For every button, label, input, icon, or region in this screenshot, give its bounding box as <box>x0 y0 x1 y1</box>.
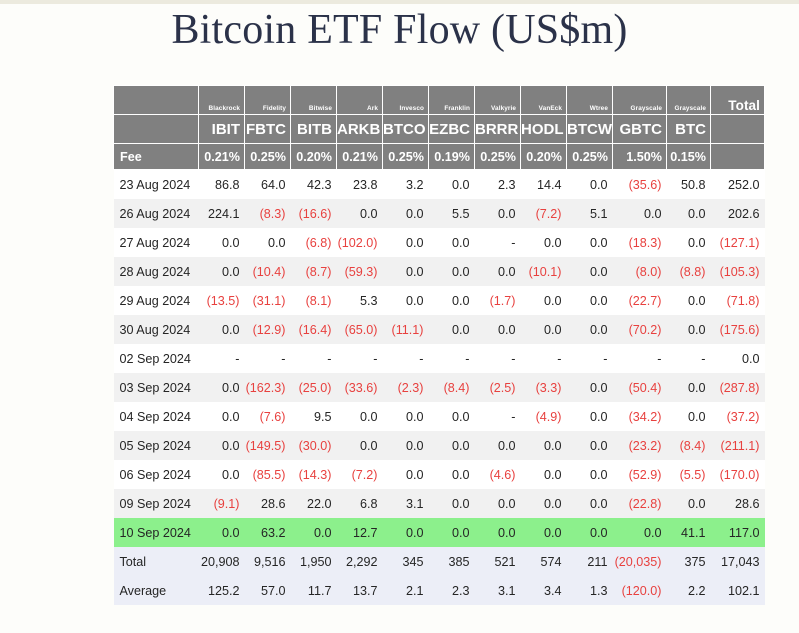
cell-gbtc: (50.4) <box>613 373 667 402</box>
header-blank-ticker <box>114 115 199 144</box>
cell-brrr: - <box>475 228 521 257</box>
cell-ibit: 0.0 <box>199 518 245 547</box>
cell-ibit: 224.1 <box>199 199 245 228</box>
fee-bitb: 0.20% <box>291 144 337 170</box>
cell-arkb: 6.8 <box>337 489 383 518</box>
cell-arkb: - <box>337 344 383 373</box>
cell-hodl: 14.4 <box>521 170 567 200</box>
row-label: 23 Aug 2024 <box>114 170 199 200</box>
cell-brrr: 2.3 <box>475 170 521 200</box>
table-row: 30 Aug 20240.0(12.9)(16.4)(65.0)(11.1)0.… <box>114 315 765 344</box>
cell-total: 117.0 <box>711 518 765 547</box>
cell-gbtc: 0.0 <box>613 518 667 547</box>
fee-hodl: 0.20% <box>521 144 567 170</box>
cell-btco: (2.3) <box>383 373 429 402</box>
cell-brrr: - <box>475 402 521 431</box>
table-row: Average125.257.011.713.72.12.33.13.41.3(… <box>114 576 765 605</box>
row-label: 06 Sep 2024 <box>114 460 199 489</box>
cell-arkb: (65.0) <box>337 315 383 344</box>
cell-arkb: 2,292 <box>337 547 383 576</box>
cell-ezbc: 0.0 <box>429 228 475 257</box>
cell-ibit: 0.0 <box>199 228 245 257</box>
company-header-btcw: Wtree <box>567 86 613 115</box>
cell-gbtc: (120.0) <box>613 576 667 605</box>
cell-btco: (11.1) <box>383 315 429 344</box>
company-header-bitb: Bitwise <box>291 86 337 115</box>
company-header-fbtc: Fidelity <box>245 86 291 115</box>
row-label: 05 Sep 2024 <box>114 431 199 460</box>
cell-ibit: (9.1) <box>199 489 245 518</box>
cell-arkb: (59.3) <box>337 257 383 286</box>
cell-ezbc: 0.0 <box>429 518 475 547</box>
cell-ibit: 0.0 <box>199 373 245 402</box>
fee-fbtc: 0.25% <box>245 144 291 170</box>
cell-btco: 0.0 <box>383 460 429 489</box>
cell-btcw: 0.0 <box>567 257 613 286</box>
cell-brrr: 521 <box>475 547 521 576</box>
cell-hodl: (3.3) <box>521 373 567 402</box>
cell-fbtc: 28.6 <box>245 489 291 518</box>
cell-bitb: (16.4) <box>291 315 337 344</box>
cell-btc: 0.0 <box>667 489 711 518</box>
fee-header-row: Fee 0.21%0.25%0.20%0.21%0.25%0.19%0.25%0… <box>114 144 765 170</box>
cell-btc: 0.0 <box>667 199 711 228</box>
cell-gbtc: (22.7) <box>613 286 667 315</box>
cell-btcw: 0.0 <box>567 373 613 402</box>
cell-fbtc: (162.3) <box>245 373 291 402</box>
cell-bitb: (8.7) <box>291 257 337 286</box>
company-header-brrr: Valkyrie <box>475 86 521 115</box>
cell-ezbc: (8.4) <box>429 373 475 402</box>
row-label: 04 Sep 2024 <box>114 402 199 431</box>
cell-btc: (8.4) <box>667 431 711 460</box>
company-header-gbtc: Grayscale <box>613 86 667 115</box>
table-row: 04 Sep 20240.0(7.6)9.50.00.00.0-(4.9)0.0… <box>114 402 765 431</box>
fee-btcw: 0.25% <box>567 144 613 170</box>
ticker-header-brrr: BRRR <box>475 115 521 144</box>
cell-hodl: 0.0 <box>521 315 567 344</box>
ticker-header-btcw: BTCW <box>567 115 613 144</box>
etf-flow-table-container: BlackrockFidelityBitwiseArkInvescoFrankl… <box>113 85 696 605</box>
cell-btco: 0.0 <box>383 518 429 547</box>
table-row: 06 Sep 20240.0(85.5)(14.3)(7.2)0.00.0(4.… <box>114 460 765 489</box>
cell-fbtc: 0.0 <box>245 228 291 257</box>
cell-hodl: 0.0 <box>521 518 567 547</box>
cell-btco: 2.1 <box>383 576 429 605</box>
cell-btcw: 1.3 <box>567 576 613 605</box>
cell-btco: 0.0 <box>383 286 429 315</box>
cell-gbtc: (20,035) <box>613 547 667 576</box>
cell-brrr: 0.0 <box>475 489 521 518</box>
cell-ezbc: 2.3 <box>429 576 475 605</box>
cell-hodl: 0.0 <box>521 460 567 489</box>
cell-btc: (5.5) <box>667 460 711 489</box>
cell-total: (211.1) <box>711 431 765 460</box>
cell-btco: 0.0 <box>383 402 429 431</box>
ticker-header-gbtc: GBTC <box>613 115 667 144</box>
table-row: 03 Sep 20240.0(162.3)(25.0)(33.6)(2.3)(8… <box>114 373 765 402</box>
cell-btco: 0.0 <box>383 228 429 257</box>
row-label: 03 Sep 2024 <box>114 373 199 402</box>
cell-ezbc: 0.0 <box>429 170 475 200</box>
row-label: 02 Sep 2024 <box>114 344 199 373</box>
cell-total: (71.8) <box>711 286 765 315</box>
cell-bitb: (25.0) <box>291 373 337 402</box>
cell-arkb: (33.6) <box>337 373 383 402</box>
cell-hodl: (4.9) <box>521 402 567 431</box>
cell-gbtc: (22.8) <box>613 489 667 518</box>
cell-ibit: (13.5) <box>199 286 245 315</box>
ticker-header-row: IBITFBTCBITBARKBBTCOEZBCBRRRHODLBTCWGBTC… <box>114 115 765 144</box>
cell-fbtc: (12.9) <box>245 315 291 344</box>
cell-total: (127.1) <box>711 228 765 257</box>
cell-brrr: (2.5) <box>475 373 521 402</box>
company-header-arkb: Ark <box>337 86 383 115</box>
cell-fbtc: 64.0 <box>245 170 291 200</box>
cell-total: (287.8) <box>711 373 765 402</box>
cell-total: (105.3) <box>711 257 765 286</box>
cell-gbtc: (52.9) <box>613 460 667 489</box>
row-label: 09 Sep 2024 <box>114 489 199 518</box>
table-row: 09 Sep 2024(9.1)28.622.06.83.10.00.00.00… <box>114 489 765 518</box>
cell-hodl: 0.0 <box>521 431 567 460</box>
cell-bitb: (8.1) <box>291 286 337 315</box>
cell-btcw: 0.0 <box>567 460 613 489</box>
cell-ibit: 20,908 <box>199 547 245 576</box>
fee-total-blank <box>711 144 765 170</box>
row-label: 28 Aug 2024 <box>114 257 199 286</box>
cell-brrr: 3.1 <box>475 576 521 605</box>
cell-btcw: 0.0 <box>567 286 613 315</box>
cell-btcw: 5.1 <box>567 199 613 228</box>
cell-fbtc: (85.5) <box>245 460 291 489</box>
fee-ibit: 0.21% <box>199 144 245 170</box>
row-label: 27 Aug 2024 <box>114 228 199 257</box>
company-header-ibit: Blackrock <box>199 86 245 115</box>
cell-btcw: 0.0 <box>567 518 613 547</box>
cell-hodl: (7.2) <box>521 199 567 228</box>
cell-fbtc: (31.1) <box>245 286 291 315</box>
cell-ezbc: 0.0 <box>429 315 475 344</box>
cell-btcw: 0.0 <box>567 402 613 431</box>
cell-gbtc: (35.6) <box>613 170 667 200</box>
company-header-ezbc: Franklin <box>429 86 475 115</box>
cell-ezbc: 0.0 <box>429 431 475 460</box>
cell-gbtc: - <box>613 344 667 373</box>
cell-total: 28.6 <box>711 489 765 518</box>
cell-hodl: 0.0 <box>521 489 567 518</box>
cell-btc: 50.8 <box>667 170 711 200</box>
cell-btc: (8.8) <box>667 257 711 286</box>
cell-arkb: 0.0 <box>337 431 383 460</box>
cell-hodl: 0.0 <box>521 228 567 257</box>
cell-btcw: 211 <box>567 547 613 576</box>
fee-gbtc: 1.50% <box>613 144 667 170</box>
ticker-header-arkb: ARKB <box>337 115 383 144</box>
cell-btc: 0.0 <box>667 228 711 257</box>
cell-btc: 0.0 <box>667 402 711 431</box>
row-label: 29 Aug 2024 <box>114 286 199 315</box>
fee-ezbc: 0.19% <box>429 144 475 170</box>
company-header-btc: Grayscale <box>667 86 711 115</box>
cell-ibit: 0.0 <box>199 315 245 344</box>
cell-ezbc: 0.0 <box>429 402 475 431</box>
cell-fbtc: (10.4) <box>245 257 291 286</box>
cell-brrr: 0.0 <box>475 315 521 344</box>
cell-btco: 0.0 <box>383 431 429 460</box>
cell-fbtc: 63.2 <box>245 518 291 547</box>
cell-fbtc: 9,516 <box>245 547 291 576</box>
cell-btc: 0.0 <box>667 315 711 344</box>
table-row: Total20,9089,5161,9502,29234538552157421… <box>114 547 765 576</box>
row-label: Average <box>114 576 199 605</box>
fee-label: Fee <box>114 144 199 170</box>
cell-btc: 2.2 <box>667 576 711 605</box>
cell-ezbc: 0.0 <box>429 257 475 286</box>
cell-total: 17,043 <box>711 547 765 576</box>
company-header-row: BlackrockFidelityBitwiseArkInvescoFrankl… <box>114 86 765 115</box>
cell-arkb: 23.8 <box>337 170 383 200</box>
ticker-header-bitb: BITB <box>291 115 337 144</box>
cell-gbtc: (8.0) <box>613 257 667 286</box>
cell-ezbc: 0.0 <box>429 460 475 489</box>
cell-bitb: 1,950 <box>291 547 337 576</box>
cell-btc: - <box>667 344 711 373</box>
table-row: 23 Aug 202486.864.042.323.83.20.02.314.4… <box>114 170 765 200</box>
cell-arkb: 0.0 <box>337 402 383 431</box>
table-body: 23 Aug 202486.864.042.323.83.20.02.314.4… <box>114 170 765 606</box>
cell-btcw: 0.0 <box>567 315 613 344</box>
cell-gbtc: (70.2) <box>613 315 667 344</box>
cell-hodl: 574 <box>521 547 567 576</box>
row-label: Total <box>114 547 199 576</box>
company-header-btco: Invesco <box>383 86 429 115</box>
cell-total: 0.0 <box>711 344 765 373</box>
cell-fbtc: (7.6) <box>245 402 291 431</box>
cell-fbtc: 57.0 <box>245 576 291 605</box>
cell-btcw: 0.0 <box>567 431 613 460</box>
cell-btco: - <box>383 344 429 373</box>
company-header-hodl: VanEck <box>521 86 567 115</box>
cell-fbtc: (149.5) <box>245 431 291 460</box>
table-header: BlackrockFidelityBitwiseArkInvescoFrankl… <box>114 86 765 170</box>
ticker-header-btco: BTCO <box>383 115 429 144</box>
cell-gbtc: (18.3) <box>613 228 667 257</box>
fee-arkb: 0.21% <box>337 144 383 170</box>
cell-btc: 0.0 <box>667 286 711 315</box>
ticker-header-btc: BTC <box>667 115 711 144</box>
cell-btco: 0.0 <box>383 199 429 228</box>
cell-ibit: 0.0 <box>199 257 245 286</box>
cell-arkb: (7.2) <box>337 460 383 489</box>
cell-gbtc: (34.2) <box>613 402 667 431</box>
cell-btco: 3.2 <box>383 170 429 200</box>
total-column-header: Total <box>711 86 765 115</box>
cell-ibit: 86.8 <box>199 170 245 200</box>
cell-total: (170.0) <box>711 460 765 489</box>
ticker-header-total-blank <box>711 115 765 144</box>
table-row: 10 Sep 20240.063.20.012.70.00.00.00.00.0… <box>114 518 765 547</box>
cell-btco: 0.0 <box>383 257 429 286</box>
cell-arkb: 5.3 <box>337 286 383 315</box>
cell-bitb: (30.0) <box>291 431 337 460</box>
cell-fbtc: - <box>245 344 291 373</box>
ticker-header-ibit: IBIT <box>199 115 245 144</box>
cell-bitb: (16.6) <box>291 199 337 228</box>
cell-ezbc: 0.0 <box>429 489 475 518</box>
cell-bitb: 42.3 <box>291 170 337 200</box>
etf-flow-table: BlackrockFidelityBitwiseArkInvescoFrankl… <box>113 85 765 605</box>
top-strip <box>0 0 799 4</box>
ticker-header-hodl: HODL <box>521 115 567 144</box>
cell-btco: 3.1 <box>383 489 429 518</box>
cell-bitb: 11.7 <box>291 576 337 605</box>
cell-hodl: 0.0 <box>521 286 567 315</box>
cell-total: 202.6 <box>711 199 765 228</box>
cell-total: (37.2) <box>711 402 765 431</box>
cell-btcw: - <box>567 344 613 373</box>
cell-btcw: 0.0 <box>567 170 613 200</box>
cell-arkb: (102.0) <box>337 228 383 257</box>
cell-ezbc: 0.0 <box>429 286 475 315</box>
page-title: Bitcoin ETF Flow (US$m) <box>0 6 799 54</box>
cell-brrr: (1.7) <box>475 286 521 315</box>
cell-btc: 41.1 <box>667 518 711 547</box>
cell-brrr: 0.0 <box>475 518 521 547</box>
cell-brrr: 0.0 <box>475 199 521 228</box>
cell-ibit: 0.0 <box>199 402 245 431</box>
cell-ezbc: 5.5 <box>429 199 475 228</box>
table-row: 26 Aug 2024224.1(8.3)(16.6)0.00.05.50.0(… <box>114 199 765 228</box>
row-label: 26 Aug 2024 <box>114 199 199 228</box>
cell-btco: 345 <box>383 547 429 576</box>
cell-hodl: (10.1) <box>521 257 567 286</box>
fee-btco: 0.25% <box>383 144 429 170</box>
header-blank-corner <box>114 86 199 115</box>
cell-ibit: 0.0 <box>199 460 245 489</box>
row-label: 10 Sep 2024 <box>114 518 199 547</box>
cell-ibit: 125.2 <box>199 576 245 605</box>
cell-hodl: 3.4 <box>521 576 567 605</box>
cell-arkb: 12.7 <box>337 518 383 547</box>
cell-gbtc: 0.0 <box>613 199 667 228</box>
ticker-header-fbtc: FBTC <box>245 115 291 144</box>
cell-btcw: 0.0 <box>567 489 613 518</box>
cell-gbtc: (23.2) <box>613 431 667 460</box>
cell-brrr: (4.6) <box>475 460 521 489</box>
cell-ezbc: 385 <box>429 547 475 576</box>
ticker-header-ezbc: EZBC <box>429 115 475 144</box>
cell-brrr: 0.0 <box>475 257 521 286</box>
cell-bitb: 9.5 <box>291 402 337 431</box>
cell-ezbc: - <box>429 344 475 373</box>
table-row: 27 Aug 20240.00.0(6.8)(102.0)0.00.0-0.00… <box>114 228 765 257</box>
cell-ibit: 0.0 <box>199 431 245 460</box>
table-row: 02 Sep 2024-----------0.0 <box>114 344 765 373</box>
cell-btc: 375 <box>667 547 711 576</box>
cell-fbtc: (8.3) <box>245 199 291 228</box>
cell-total: 102.1 <box>711 576 765 605</box>
cell-ibit: - <box>199 344 245 373</box>
cell-bitb: 0.0 <box>291 518 337 547</box>
cell-bitb: 22.0 <box>291 489 337 518</box>
cell-btc: 0.0 <box>667 373 711 402</box>
table-row: 05 Sep 20240.0(149.5)(30.0)0.00.00.00.00… <box>114 431 765 460</box>
cell-bitb: (6.8) <box>291 228 337 257</box>
cell-total: 252.0 <box>711 170 765 200</box>
cell-total: (175.6) <box>711 315 765 344</box>
cell-bitb: (14.3) <box>291 460 337 489</box>
cell-brrr: 0.0 <box>475 431 521 460</box>
cell-hodl: - <box>521 344 567 373</box>
fee-btc: 0.15% <box>667 144 711 170</box>
fee-brrr: 0.25% <box>475 144 521 170</box>
cell-bitb: - <box>291 344 337 373</box>
cell-btcw: 0.0 <box>567 228 613 257</box>
table-row: 29 Aug 2024(13.5)(31.1)(8.1)5.30.00.0(1.… <box>114 286 765 315</box>
cell-arkb: 0.0 <box>337 199 383 228</box>
table-row: 28 Aug 20240.0(10.4)(8.7)(59.3)0.00.00.0… <box>114 257 765 286</box>
cell-brrr: - <box>475 344 521 373</box>
row-label: 30 Aug 2024 <box>114 315 199 344</box>
cell-arkb: 13.7 <box>337 576 383 605</box>
